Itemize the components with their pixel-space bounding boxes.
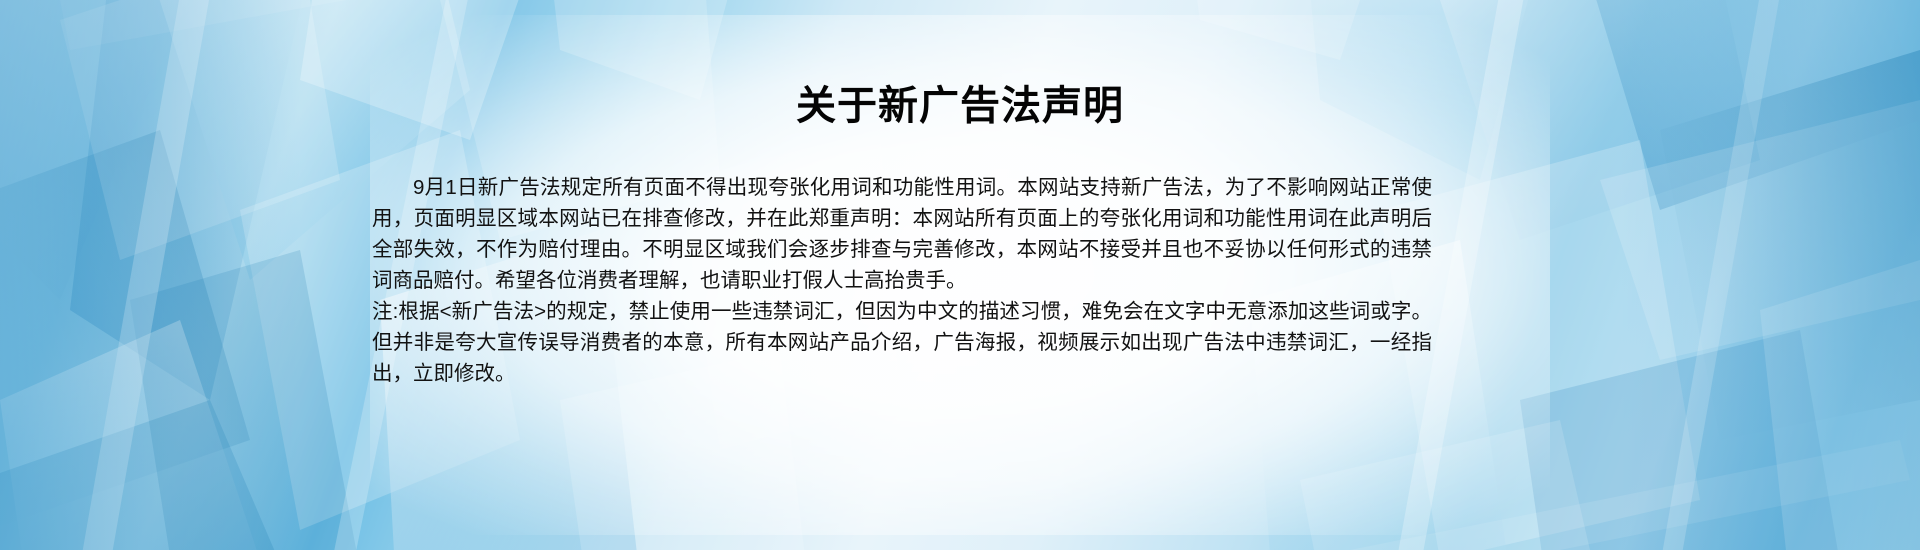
statement-body: 9月1日新广告法规定所有页面不得出现夸张化用词和功能性用词。本网站支持新广告法，… xyxy=(372,172,1432,389)
advertising-law-statement-banner: 关于新广告法声明 9月1日新广告法规定所有页面不得出现夸张化用词和功能性用词。本… xyxy=(0,0,1920,550)
page-title: 关于新广告法声明 xyxy=(0,82,1920,130)
statement-content: 关于新广告法声明 9月1日新广告法规定所有页面不得出现夸张化用词和功能性用词。本… xyxy=(0,0,1920,550)
statement-paragraph-1: 9月1日新广告法规定所有页面不得出现夸张化用词和功能性用词。本网站支持新广告法，… xyxy=(372,172,1432,296)
statement-paragraph-2: 注:根据<新广告法>的规定，禁止使用一些违禁词汇，但因为中文的描述习惯，难免会在… xyxy=(372,296,1432,389)
